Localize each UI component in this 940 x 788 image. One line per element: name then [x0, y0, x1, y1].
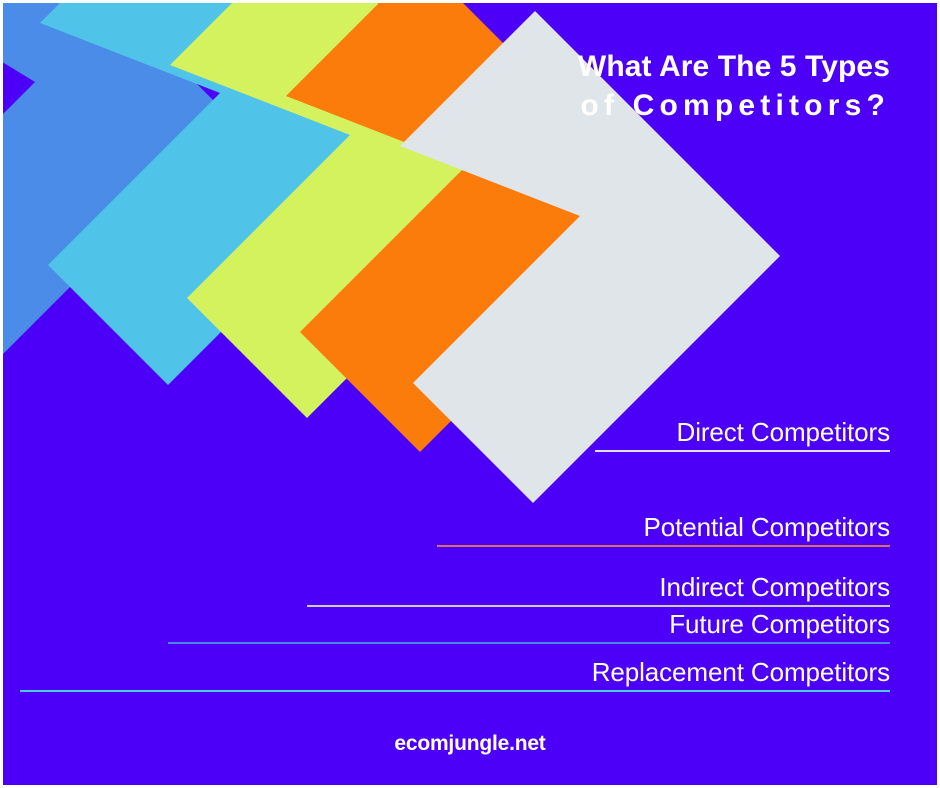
label-row-potential: Potential Competitors [437, 512, 890, 547]
label-indirect-competitors: Indirect Competitors [659, 572, 890, 602]
rule-indirect-competitors [307, 605, 890, 607]
title-line-1: What Are The 5 Types [470, 48, 890, 86]
label-future-competitors: Future Competitors [669, 609, 890, 639]
rule-direct-competitors [595, 450, 890, 452]
label-row-future: Future Competitors [168, 609, 890, 644]
page-title: What Are The 5 Types of Competitors? [470, 48, 890, 126]
label-direct-competitors: Direct Competitors [677, 417, 890, 447]
footer: ecomjungle.net [0, 732, 940, 756]
title-line-2: of Competitors? [470, 86, 890, 126]
label-replacement-competitors: Replacement Competitors [592, 657, 890, 687]
label-row-replacement: Replacement Competitors [20, 657, 890, 692]
rule-replacement-competitors [20, 690, 890, 692]
brand-wordmark: ecomjungle.net [394, 732, 545, 755]
rule-future-competitors [168, 642, 890, 644]
label-row-indirect: Indirect Competitors [307, 572, 890, 607]
label-potential-competitors: Potential Competitors [644, 512, 890, 542]
rule-potential-competitors [437, 545, 890, 547]
label-row-direct: Direct Competitors [595, 417, 890, 452]
infographic-canvas: What Are The 5 Types of Competitors? Dir… [0, 0, 940, 788]
